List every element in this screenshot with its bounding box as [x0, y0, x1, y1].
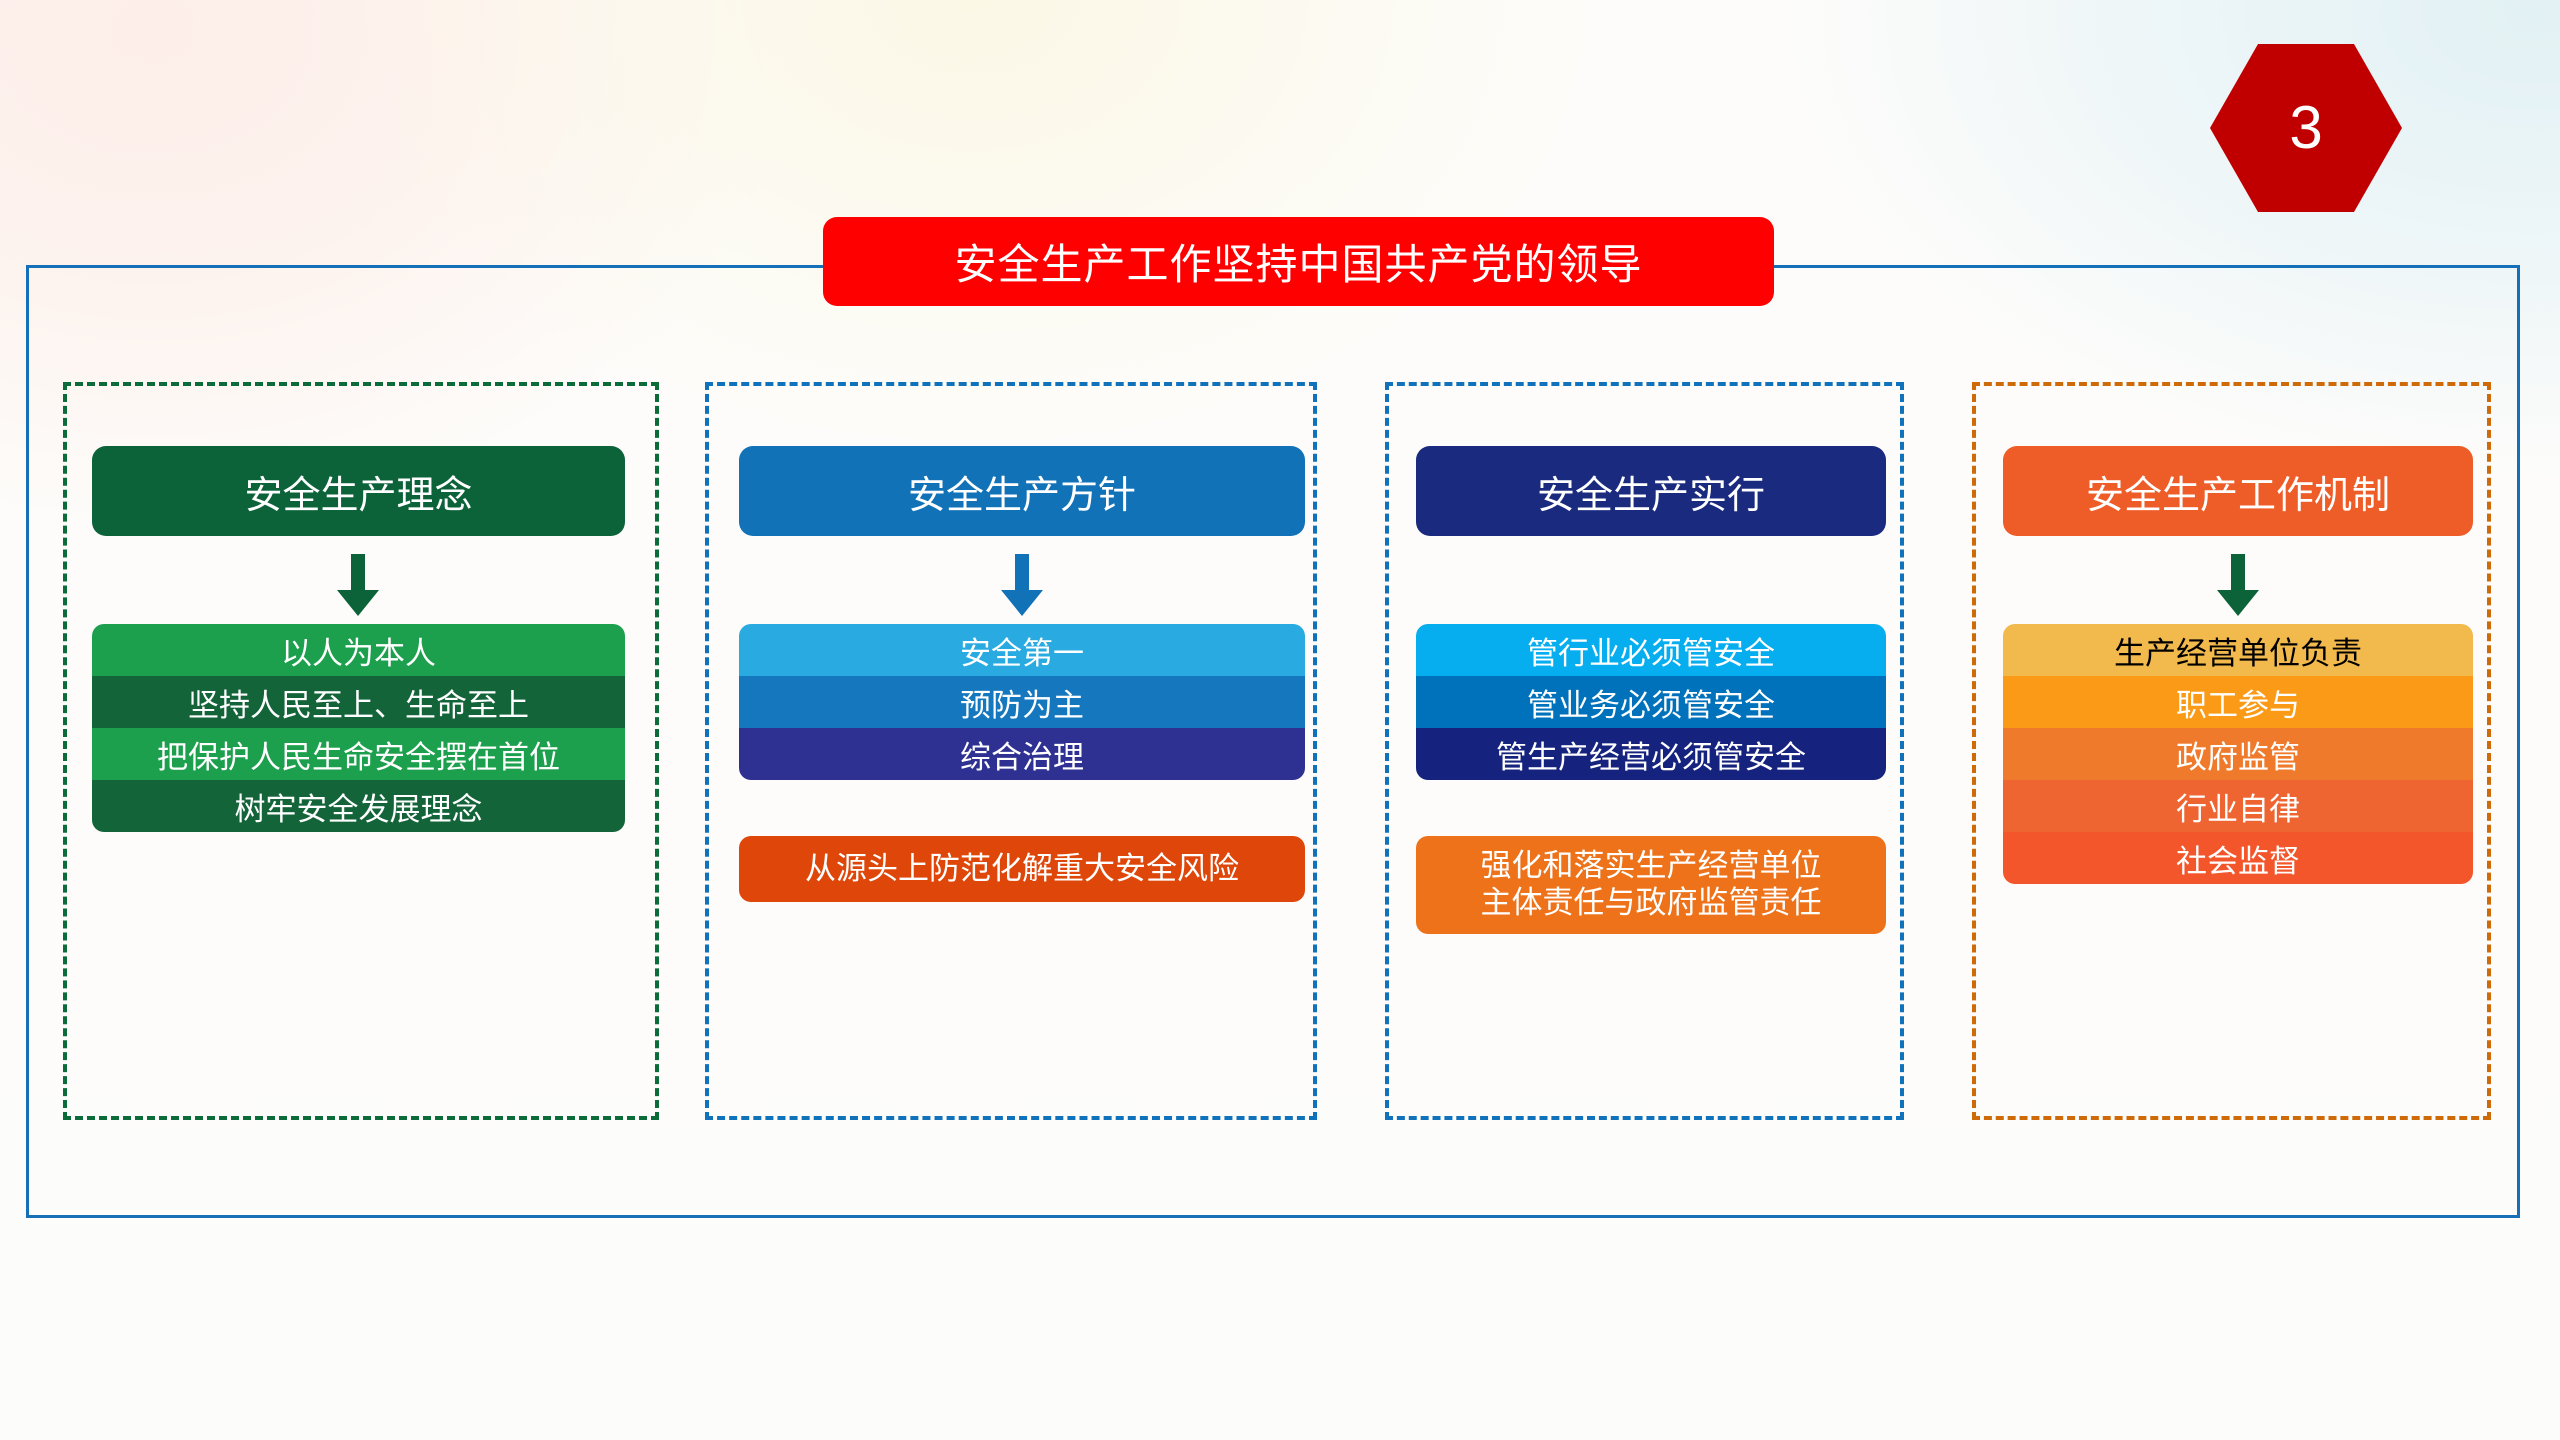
- row-item-label: 管业务必须管安全: [1527, 680, 1775, 725]
- row-item-label: 行业自律: [2176, 784, 2300, 829]
- column-rows-policy: 安全第一预防为主综合治理: [739, 624, 1305, 780]
- row-item[interactable]: 预防为主: [739, 676, 1305, 728]
- row-item[interactable]: 管行业必须管安全: [1416, 624, 1886, 676]
- row-item-label: 管行业必须管安全: [1527, 628, 1775, 673]
- row-item-label: 政府监管: [2176, 732, 2300, 777]
- column-header-label: 安全生产工作机制: [2086, 464, 2390, 519]
- column-header-label: 安全生产实行: [1537, 464, 1765, 519]
- row-item-label: 综合治理: [960, 732, 1084, 777]
- down-arrow-icon: [2215, 554, 2261, 616]
- row-item[interactable]: 以人为本人: [92, 624, 625, 676]
- row-item[interactable]: 社会监督: [2003, 832, 2473, 884]
- row-item[interactable]: 政府监管: [2003, 728, 2473, 780]
- row-item-label: 以人为本人: [281, 628, 436, 673]
- row-item[interactable]: 安全第一: [739, 624, 1305, 676]
- row-item-label: 社会监督: [2176, 836, 2300, 881]
- column-header-label: 安全生产理念: [244, 464, 472, 519]
- row-item-label: 管生产经营必须管安全: [1496, 732, 1806, 777]
- column-implementation: 安全生产实行管行业必须管安全管业务必须管安全管生产经营必须管安全强化和落实生产经…: [1385, 382, 1904, 1120]
- column-header-label: 安全生产方针: [908, 464, 1136, 519]
- row-item[interactable]: 树牢安全发展理念: [92, 780, 625, 832]
- column-policy: 安全生产方针安全第一预防为主综合治理从源头上防范化解重大安全风险: [705, 382, 1317, 1120]
- row-item-label: 安全第一: [960, 628, 1084, 673]
- column-header-implementation[interactable]: 安全生产实行: [1416, 446, 1886, 536]
- row-item[interactable]: 管生产经营必须管安全: [1416, 728, 1886, 780]
- column-footer-implementation[interactable]: 强化和落实生产经营单位 主体责任与政府监管责任: [1416, 836, 1886, 934]
- column-header-concept[interactable]: 安全生产理念: [92, 446, 625, 536]
- row-item-label: 预防为主: [960, 680, 1084, 725]
- row-item[interactable]: 把保护人民生命安全摆在首位: [92, 728, 625, 780]
- down-arrow-icon: [999, 554, 1045, 616]
- column-footer-policy[interactable]: 从源头上防范化解重大安全风险: [739, 836, 1305, 902]
- column-rows-concept: 以人为本人坚持人民至上、生命至上把保护人民生命安全摆在首位树牢安全发展理念: [92, 624, 625, 832]
- column-mechanism: 安全生产工作机制生产经营单位负责职工参与政府监管行业自律社会监督: [1972, 382, 2491, 1120]
- column-header-policy[interactable]: 安全生产方针: [739, 446, 1305, 536]
- page-number-value: 3: [2289, 98, 2322, 158]
- column-footer-label: 强化和落实生产经营单位 主体责任与政府监管责任: [1481, 848, 1822, 921]
- row-item[interactable]: 坚持人民至上、生命至上: [92, 676, 625, 728]
- column-concept: 安全生产理念以人为本人坚持人民至上、生命至上把保护人民生命安全摆在首位树牢安全发…: [63, 382, 659, 1120]
- row-item[interactable]: 生产经营单位负责: [2003, 624, 2473, 676]
- slide-title-banner: 安全生产工作坚持中国共产党的领导: [823, 217, 1774, 306]
- down-arrow-icon: [335, 554, 381, 616]
- row-item-label: 树牢安全发展理念: [235, 784, 483, 829]
- slide-title-text: 安全生产工作坚持中国共产党的领导: [954, 231, 1642, 292]
- column-rows-mechanism: 生产经营单位负责职工参与政府监管行业自律社会监督: [2003, 624, 2473, 884]
- column-rows-implementation: 管行业必须管安全管业务必须管安全管生产经营必须管安全: [1416, 624, 1886, 780]
- row-item[interactable]: 职工参与: [2003, 676, 2473, 728]
- row-item-label: 生产经营单位负责: [2114, 628, 2362, 673]
- column-header-mechanism[interactable]: 安全生产工作机制: [2003, 446, 2473, 536]
- column-footer-label: 从源头上防范化解重大安全风险: [805, 851, 1239, 888]
- row-item-label: 职工参与: [2176, 680, 2300, 725]
- row-item-label: 把保护人民生命安全摆在首位: [157, 732, 560, 777]
- row-item[interactable]: 行业自律: [2003, 780, 2473, 832]
- row-item[interactable]: 管业务必须管安全: [1416, 676, 1886, 728]
- row-item[interactable]: 综合治理: [739, 728, 1305, 780]
- row-item-label: 坚持人民至上、生命至上: [188, 680, 529, 725]
